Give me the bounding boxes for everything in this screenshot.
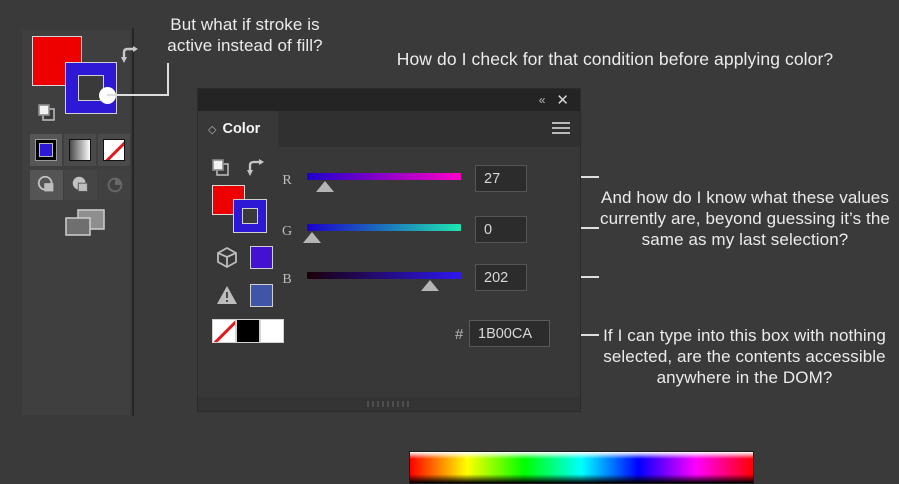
screen-mode-icon[interactable]	[64, 208, 106, 238]
solid-color-icon	[35, 139, 57, 161]
black-swatch[interactable]	[236, 319, 260, 343]
channel-label-red: R	[278, 173, 296, 189]
annotation-condition-question: How do I check for that condition before…	[360, 49, 870, 70]
panel-footer	[198, 397, 580, 411]
white-swatch[interactable]	[260, 319, 284, 343]
slider-track-blue[interactable]	[307, 272, 461, 279]
hex-prefix-label: #	[455, 326, 463, 343]
annotation-stroke-question: But what if stroke is active instead of …	[150, 14, 340, 56]
draw-mode-buttons	[30, 170, 131, 200]
leader-line-horizontal	[107, 94, 169, 96]
channel-label-green: G	[278, 224, 296, 240]
color-spectrum-strip[interactable]	[409, 451, 754, 484]
slider-thumb-green[interactable]	[303, 232, 321, 243]
panel-stroke-swatch-hole	[242, 208, 258, 224]
slider-thumb-red[interactable]	[316, 181, 334, 192]
slider-track-green[interactable]	[307, 224, 461, 231]
slider-track-red[interactable]	[307, 173, 461, 180]
panel-swap-fill-stroke-icon[interactable]	[246, 159, 266, 177]
panel-3d-row	[215, 245, 273, 269]
annotation-dom-question: If I can type into this box with nothing…	[592, 325, 897, 388]
panel-tab-strip: ◇ Color	[198, 111, 580, 147]
fill-stroke-indicator[interactable]	[32, 36, 114, 118]
paint-mode-solid-button[interactable]	[30, 134, 62, 166]
toolbar-divider	[132, 28, 134, 416]
panel-warning-row	[215, 283, 273, 307]
draw-inside-icon	[104, 174, 126, 196]
panel-default-fill-stroke-icon[interactable]	[212, 159, 230, 177]
panel-titlebar: « ✕	[198, 89, 580, 111]
draw-normal-button[interactable]	[30, 170, 63, 200]
draw-behind-button[interactable]	[64, 170, 97, 200]
close-panel-icon[interactable]: ✕	[556, 93, 569, 108]
draw-inside-button[interactable]	[98, 170, 131, 200]
tab-color-label: Color	[222, 121, 260, 137]
swap-fill-stroke-icon[interactable]	[120, 46, 140, 64]
draw-behind-icon	[70, 174, 92, 196]
quick-swatches	[212, 319, 284, 343]
none-swatch[interactable]	[212, 319, 236, 343]
draw-normal-icon	[36, 174, 58, 196]
color-panel: « ✕ ◇ Color	[197, 88, 581, 412]
default-fill-stroke-icon[interactable]	[38, 104, 56, 122]
tools-panel	[22, 30, 130, 415]
panel-stroke-swatch[interactable]	[233, 199, 267, 233]
panel-3d-color-chip[interactable]	[250, 246, 273, 269]
panel-menu-icon[interactable]	[552, 122, 570, 136]
leader-line-vertical	[167, 63, 169, 96]
slider-thumb-blue[interactable]	[421, 280, 439, 291]
channel-label-blue: B	[278, 272, 296, 288]
annotation-values-question: And how do I know what these values curr…	[597, 187, 893, 250]
panel-warning-color-chip[interactable]	[250, 284, 273, 307]
collapse-panel-icon[interactable]: «	[539, 94, 545, 106]
paint-mode-gradient-button[interactable]	[64, 134, 96, 166]
no-color-icon	[103, 139, 125, 161]
value-input-red[interactable]: 27	[475, 165, 527, 192]
resize-grip-icon[interactable]	[367, 401, 411, 407]
hex-input[interactable]: 1B00CA	[469, 320, 550, 347]
gradient-icon	[69, 139, 91, 161]
warning-triangle-icon	[215, 283, 239, 307]
screenshot-stage: But what if stroke is active instead of …	[0, 0, 899, 435]
value-input-blue[interactable]: 202	[475, 264, 527, 291]
cube-3d-icon	[215, 245, 239, 269]
paint-mode-none-button[interactable]	[98, 134, 130, 166]
tab-color[interactable]: ◇ Color	[198, 111, 278, 147]
tab-grip-icon: ◇	[208, 123, 216, 136]
paint-mode-buttons	[30, 134, 130, 166]
value-input-green[interactable]: 0	[475, 216, 527, 243]
